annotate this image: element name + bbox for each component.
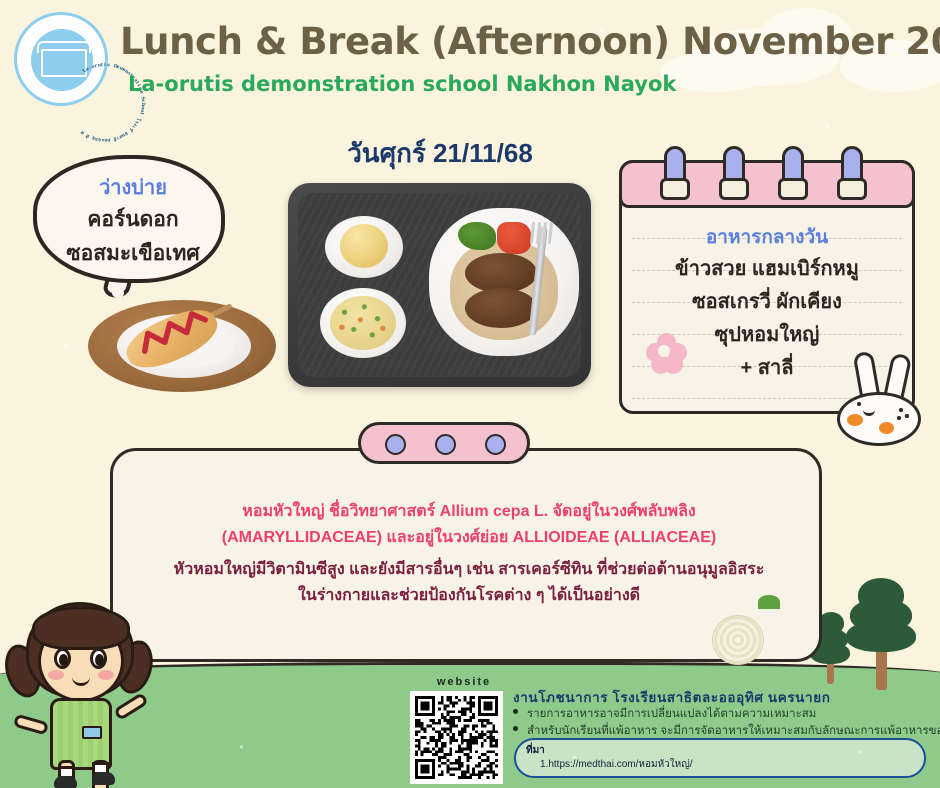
schoolgirl-mascot <box>6 600 156 788</box>
snack-heading: ว่างบ่าย <box>37 171 229 203</box>
lunch-menu-title: อาหารกลางวัน <box>619 222 915 252</box>
info-line: หัวหอมใหญ่มีวิตามินซีสูง และยังมีสารอื่น… <box>113 557 825 582</box>
snack-line-1: คอร์นดอก <box>37 203 229 236</box>
source-label: ที่มา <box>526 743 545 758</box>
school-logo: La-orutis Demonstration School โรงเรียนส… <box>14 12 108 106</box>
onion-illustration <box>712 595 798 667</box>
speech-bubble-tail-dot <box>112 288 124 298</box>
pine-tree <box>846 578 916 688</box>
flower-icon <box>646 333 688 375</box>
page-title: Lunch & Break (Afternoon) November 2025 <box>120 20 940 63</box>
website-label: website <box>414 676 514 688</box>
soup-content <box>330 296 396 350</box>
hamburger-patty <box>465 288 537 328</box>
date-banner: วันศุกร์ 21/11/68 <box>300 133 580 174</box>
info-line: (AMARYLLIDACEAE) และอยู่ในวงศ์ย่อย ALLIO… <box>113 525 825 550</box>
tomato-garnish <box>497 222 531 254</box>
qr-code-image <box>415 696 498 779</box>
page-subtitle: La-orutis demonstration school Nakhon Na… <box>128 72 676 96</box>
info-card-tab <box>358 422 530 464</box>
logo-ring-text: La-orutis Demonstration School โรงเรียนส… <box>17 15 105 103</box>
info-line: หอมหัวใหญ่ ชื่อวิทยาศาสตร์ Allium cepa L… <box>113 499 825 524</box>
spiral-ring-base <box>660 178 690 200</box>
hamburger-patty <box>465 253 537 293</box>
source-url[interactable]: 1.https://medthai.com/หอมหัวใหญ่/ <box>540 757 693 772</box>
footer-note: รายการอาหารอาจมีการเปลี่ยนแปลงได้ตามความ… <box>527 705 816 723</box>
pear-fruit <box>340 224 388 268</box>
snack-line-2: ซอสมะเขือเทศ <box>37 237 229 270</box>
spiral-ring-base <box>719 178 749 200</box>
spiral-ring-base <box>837 178 867 200</box>
bunny-mascot <box>833 352 929 448</box>
poster-canvas: La-orutis Demonstration School โรงเรียนส… <box>0 0 940 788</box>
broccoli-garnish <box>458 222 496 250</box>
qr-code[interactable] <box>410 691 503 784</box>
lunch-menu-item: ซอสเกรวี่ ผักเคียง <box>619 285 915 317</box>
footer-note-text: สำหรับนักเรียนที่แพ้อาหาร จะมีการจัดอาหา… <box>527 725 940 737</box>
footer-note-text: รายการอาหารอาจมีการเปลี่ยนแปลงได้ตามความ… <box>527 708 816 720</box>
lunch-menu-item: ข้าวสวย แฮมเบิร์กหมู <box>619 252 915 284</box>
snack-speech-bubble: ว่างบ่าย คอร์นดอก ซอสมะเขือเทศ <box>33 155 225 283</box>
spiral-ring-base <box>778 178 808 200</box>
